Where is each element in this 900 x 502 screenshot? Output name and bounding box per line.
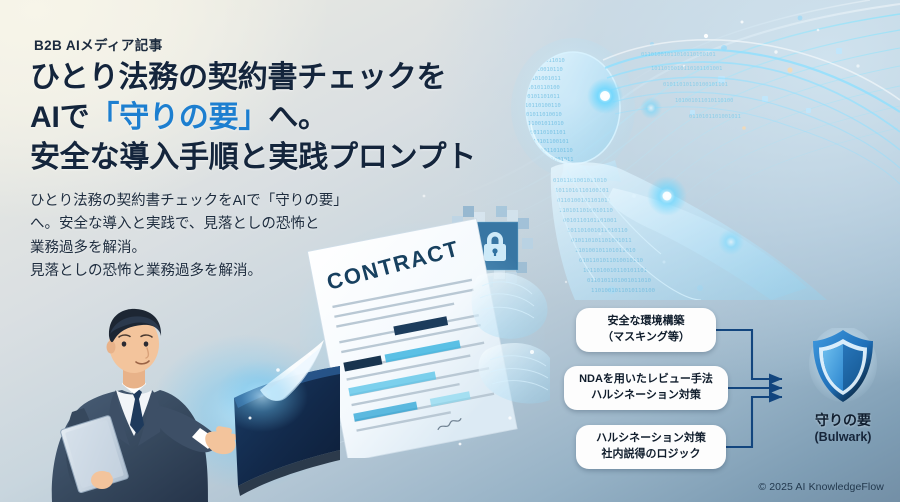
svg-text:101001011010110100: 101001011010110100 (675, 98, 733, 104)
svg-text:00110101101: 00110101101 (530, 130, 566, 136)
svg-text:0110101101001011010: 0110101101001011010 (587, 278, 651, 284)
node-3-line-2: 社内説得のロジック (602, 447, 701, 463)
node-1-line-2: （マスキング等） (602, 330, 690, 346)
hero-description: ひとり法務の契約書チェックをAIで「守りの要」 へ。安全な導入と実践で、見落とし… (30, 190, 410, 284)
svg-text:01011010110100101101: 01011010110100101101 (663, 82, 728, 88)
svg-text:10110010110: 10110010110 (527, 67, 563, 73)
headline-line-3: 安全な導入手順と実践プロンプト (30, 141, 476, 174)
svg-text:1101001011010110100: 1101001011010110100 (591, 288, 655, 294)
bulwark-diagram: 安全な環境構築 （マスキング等） NDAを用いたレビュー手法 ハルシネーション対… (556, 300, 900, 500)
svg-text:1101001011: 1101001011 (541, 157, 573, 163)
node-3-line-1: ハルシネーション対策 (596, 431, 706, 447)
svg-text:0101101001011010: 0101101001011010 (553, 178, 607, 184)
hero-banner: 0100101101010110010110 01101001011110101… (0, 0, 900, 502)
svg-text:11001011010: 11001011010 (528, 121, 564, 127)
description-line-2: へ。安全な導入と実践で、見落としの恐怖と (30, 216, 319, 232)
businessman-illustration (10, 300, 340, 502)
eyebrow-label: B2B AIメディア記事 (34, 34, 163, 54)
svg-text:01001011010: 01001011010 (529, 58, 565, 64)
bulwark-label: 守りの要 (788, 412, 898, 430)
node-2-line-1: NDAを用いたレビュー手法 (579, 372, 713, 388)
node-1-line-1: 安全な環境構築 (608, 314, 685, 330)
svg-text:1011010110100101: 1011010110100101 (555, 188, 609, 194)
svg-text:101101001011010110: 101101001011010110 (567, 228, 628, 234)
svg-text:010110101101001011: 010110101101001011 (571, 238, 632, 244)
ai-humanoid-figure: 0100101101010110010110 01101001011110101… (455, 0, 900, 300)
diagram-node-nda-review[interactable]: NDAを用いたレビュー手法 ハルシネーション対策 (564, 366, 728, 410)
headline-accent-phrase: 「守りの要」 (89, 101, 268, 134)
svg-text:10101100101: 10101100101 (533, 139, 569, 145)
description-line-3: 業務過多を解消。 (30, 240, 146, 256)
svg-text:01011010010: 01011010010 (526, 112, 562, 118)
svg-text:1011010010110101101: 1011010010110101101 (583, 268, 647, 274)
description-line-1: ひとり法務の契約書チェックをAIで「守りの要」 (30, 193, 348, 209)
copyright-notice: © 2025 AI KnowledgeFlow (758, 481, 884, 493)
headline-line-1: ひとり法務の契約書チェックを (30, 61, 446, 94)
svg-text:01101001011: 01101001011 (525, 76, 561, 82)
svg-text:11010110100: 11010110100 (524, 85, 560, 91)
svg-text:00101101011: 00101101011 (524, 94, 560, 100)
svg-text:1011010010110101101001: 1011010010110101101001 (651, 66, 722, 72)
diagram-node-secure-environment[interactable]: 安全な環境構築 （マスキング等） (576, 308, 716, 352)
diagram-node-hallucination-logic[interactable]: ハルシネーション対策 社内説得のロジック (576, 425, 726, 469)
svg-text:0110100101101011: 0110100101101011 (557, 198, 611, 204)
page-title: ひとり法務の契約書チェックを AIで「守りの要」へ。 安全な導入手順と実践プロン… (30, 58, 500, 178)
headline-line-2-prefix: AIで (30, 101, 89, 134)
pixelated-lock-icon (452, 206, 538, 292)
svg-text:0110101101001011: 0110101101001011 (689, 114, 741, 120)
svg-text:1101011010010110: 1101011010010110 (559, 208, 613, 214)
svg-text:110100101101011010: 110100101101011010 (575, 248, 636, 254)
node-2-line-2: ハルシネーション対策 (591, 388, 701, 404)
svg-text:0101101011010010110: 0101101011010010110 (579, 258, 643, 264)
description-line-4: 見落としの恐怖と業務過多を解消。 (30, 263, 262, 279)
connector-box-3 (726, 397, 782, 447)
bulwark-sublabel: (Bulwark) (788, 430, 898, 444)
svg-text:01011010110: 01011010110 (537, 148, 573, 154)
shield-icon (809, 328, 877, 404)
headline-line-2-suffix: へ。 (268, 101, 328, 134)
svg-text:0010110101101001: 0010110101101001 (563, 218, 617, 224)
svg-text:01101001011010110100101: 01101001011010110100101 (641, 52, 716, 58)
bulwark-target: 守りの要 (Bulwark) (788, 328, 898, 444)
svg-text:10110100110: 10110100110 (525, 103, 561, 109)
